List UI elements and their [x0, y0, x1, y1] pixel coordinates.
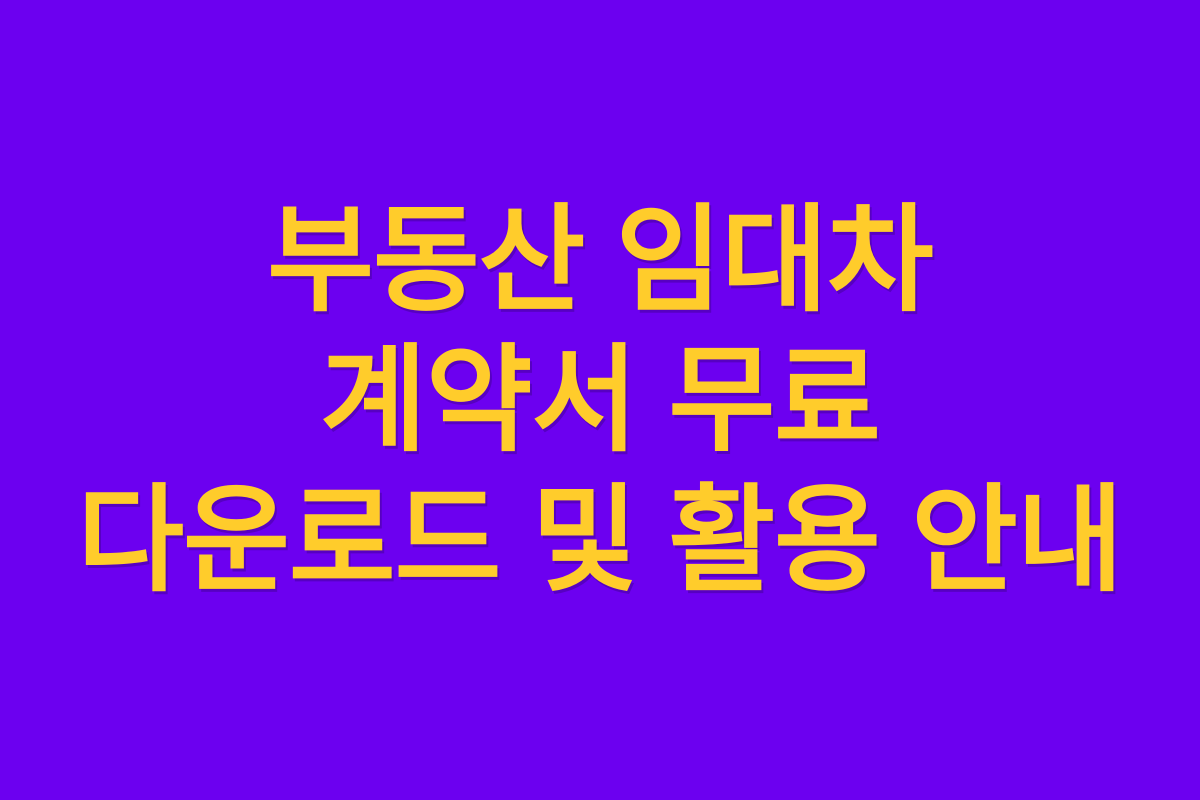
title-line-3: 다운로드 및 활용 안내 — [16, 470, 1184, 610]
page-title: 부동산 임대차 계약서 무료 다운로드 및 활용 안내 — [0, 190, 1200, 610]
title-line-2: 계약서 무료 — [16, 330, 1184, 470]
title-line-1: 부동산 임대차 — [16, 190, 1184, 330]
title-card-banner: 부동산 임대차 계약서 무료 다운로드 및 활용 안내 — [0, 0, 1200, 800]
